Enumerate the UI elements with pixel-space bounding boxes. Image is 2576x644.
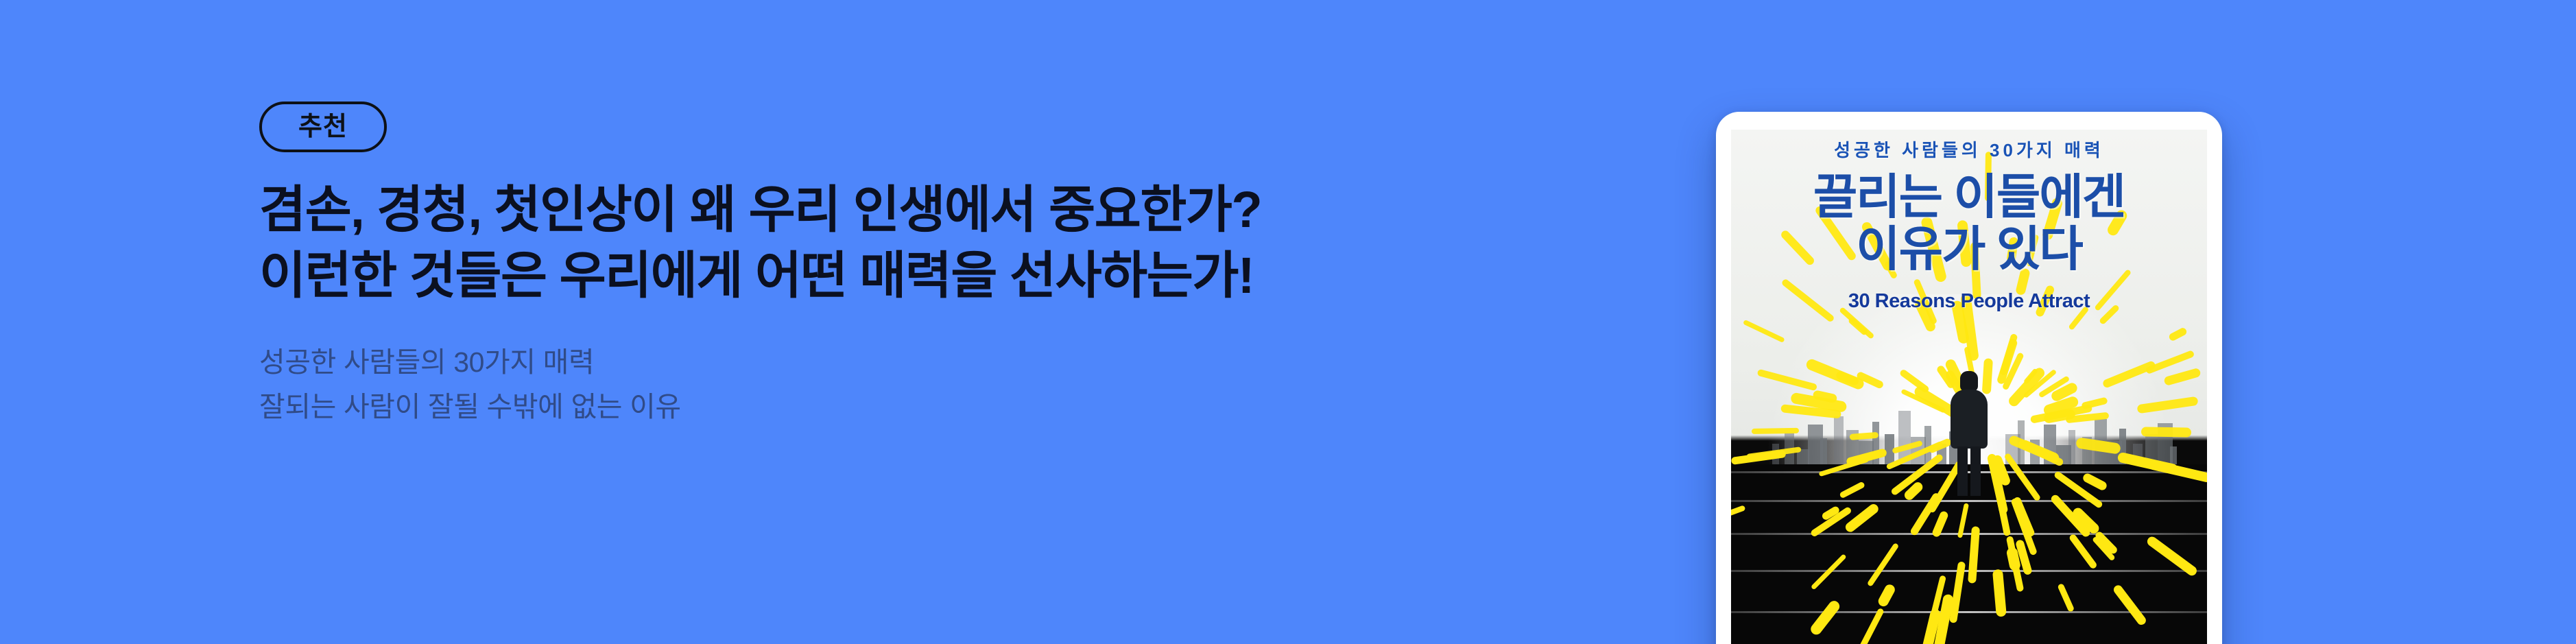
silhouette-head bbox=[1960, 371, 1978, 392]
page-title: 겸손, 경청, 첫인상이 왜 우리 인생에서 중요한가? 이런한 것들은 우리에… bbox=[259, 177, 1466, 309]
silhouette-leg-right bbox=[1970, 446, 1981, 496]
book-cover-card[interactable]: 성공한 사람들의 30가지 매력 끌리는 이들에겐 이유가 있다 30 Reas… bbox=[1716, 112, 2222, 644]
book-cover-artwork: 성공한 사람들의 30가지 매력 끌리는 이들에겐 이유가 있다 30 Reas… bbox=[1731, 130, 2207, 644]
headline-line-2: 이런한 것들은 우리에게 어떤 매력을 선사하는가! bbox=[259, 243, 1466, 309]
businessman-silhouette-icon bbox=[1948, 371, 1990, 499]
headline-line-1: 겸손, 경청, 첫인상이 왜 우리 인생에서 중요한가? bbox=[259, 177, 1466, 243]
book-subtitle-english: 30 Reasons People Attract bbox=[1731, 290, 2207, 313]
book-title: 끌리는 이들에겐 이유가 있다 bbox=[1731, 171, 2207, 275]
status-badge: 추천 bbox=[259, 102, 387, 152]
silhouette-leg-left bbox=[1957, 446, 1968, 496]
page-subtitle: 성공한 사람들의 30가지 매력 잘되는 사람이 잘될 수밖에 없는 이유 bbox=[259, 340, 1466, 429]
banner-text-column: 추천 겸손, 경청, 첫인상이 왜 우리 인생에서 중요한가? 이런한 것들은 … bbox=[259, 102, 1466, 429]
subtitle-line-1: 성공한 사람들의 30가지 매력 bbox=[259, 340, 1466, 385]
promo-banner: 추천 겸손, 경청, 첫인상이 왜 우리 인생에서 중요한가? 이런한 것들은 … bbox=[0, 0, 2576, 644]
subtitle-line-2: 잘되는 사람이 잘될 수밖에 없는 이유 bbox=[259, 385, 1466, 429]
book-eyebrow: 성공한 사람들의 30가지 매력 bbox=[1731, 130, 2207, 162]
silhouette-body bbox=[1951, 390, 1988, 449]
book-title-line-1: 끌리는 이들에겐 bbox=[1731, 171, 2207, 224]
book-title-line-2: 이유가 있다 bbox=[1731, 224, 2207, 276]
